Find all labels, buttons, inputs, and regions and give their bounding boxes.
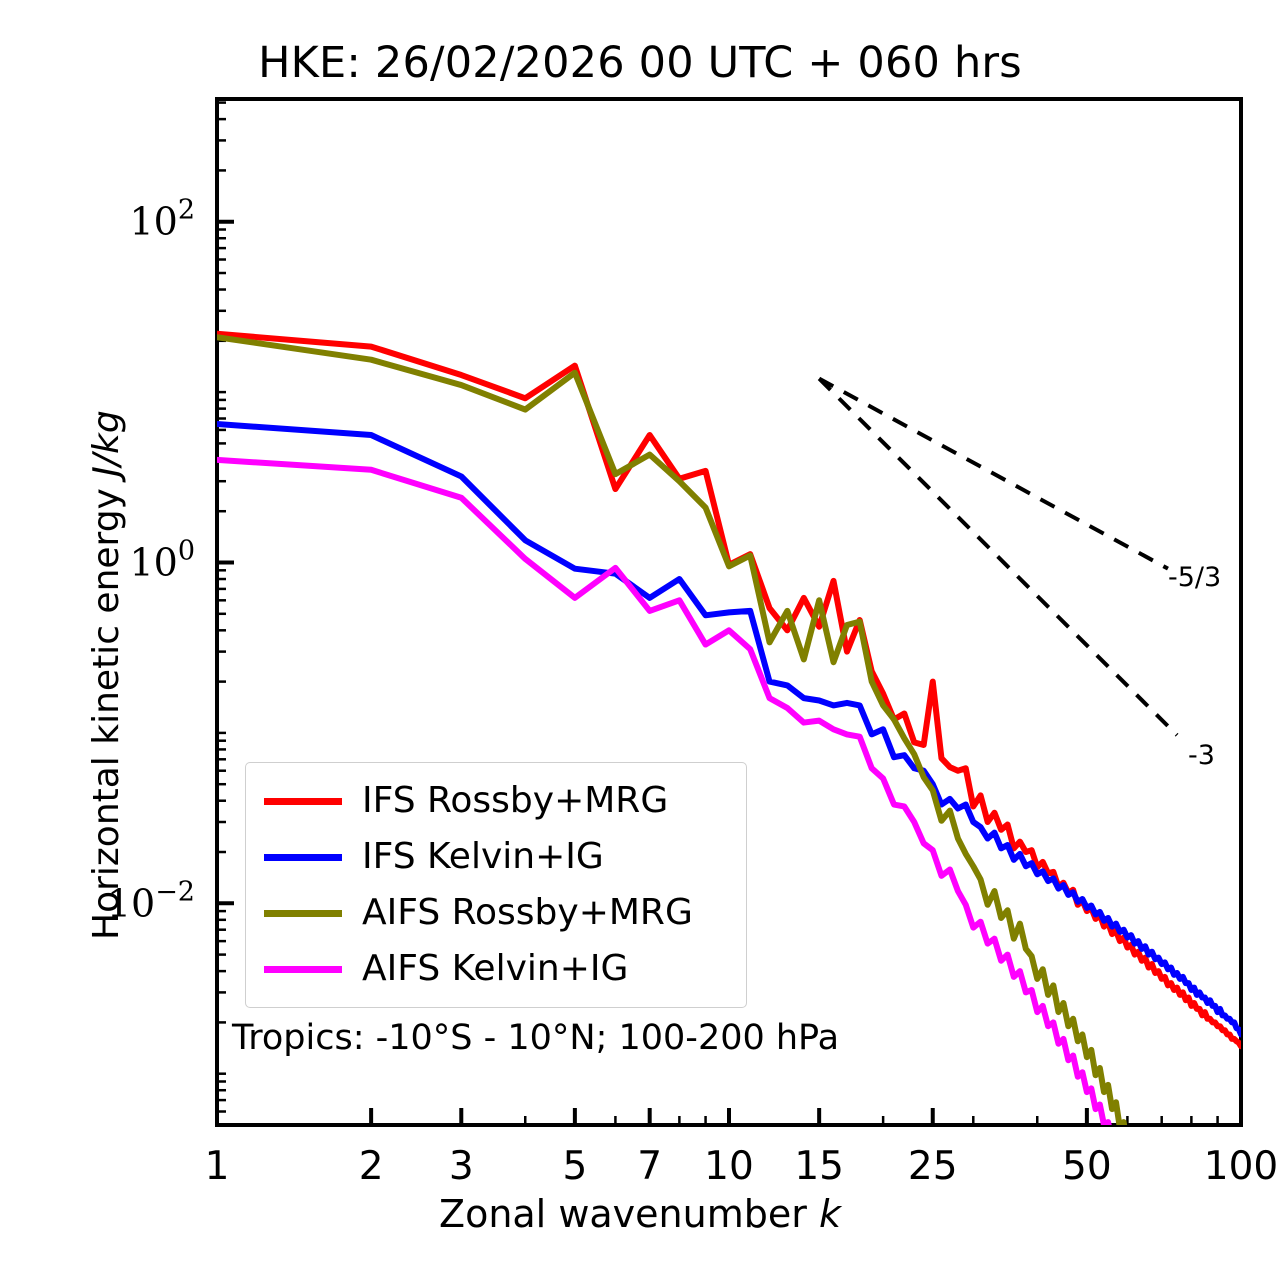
svg-text:102: 102 bbox=[129, 195, 195, 244]
svg-text:50: 50 bbox=[1062, 1144, 1112, 1189]
svg-text:25: 25 bbox=[908, 1144, 958, 1189]
legend-item[interactable]: AIFS Rossby+MRG bbox=[246, 885, 746, 941]
legend-item[interactable]: AIFS Kelvin+IG bbox=[246, 941, 746, 997]
svg-text:100: 100 bbox=[1204, 1144, 1278, 1189]
slope-label-53: -5/3 bbox=[1168, 562, 1221, 593]
svg-text:15: 15 bbox=[794, 1144, 844, 1189]
svg-text:7: 7 bbox=[637, 1144, 662, 1189]
legend-swatch-line bbox=[264, 854, 342, 861]
legend-item[interactable]: IFS Kelvin+IG bbox=[246, 829, 746, 885]
legend-swatch-line bbox=[264, 910, 342, 917]
legend-item-label: IFS Rossby+MRG bbox=[362, 783, 668, 819]
legend-item[interactable]: IFS Rossby+MRG bbox=[246, 773, 746, 829]
svg-text:1: 1 bbox=[205, 1144, 230, 1189]
plot-area: 123571015255010010210010−2 bbox=[0, 0, 1280, 1288]
svg-text:3: 3 bbox=[449, 1144, 474, 1189]
legend-item-label: AIFS Kelvin+IG bbox=[362, 951, 628, 987]
svg-text:10−2: 10−2 bbox=[107, 876, 195, 925]
region-annotation: Tropics: -10°S - 10°N; 100-200 hPa bbox=[232, 1018, 839, 1058]
svg-text:5: 5 bbox=[562, 1144, 587, 1189]
svg-text:10: 10 bbox=[704, 1144, 754, 1189]
svg-text:2: 2 bbox=[359, 1144, 384, 1189]
slope-label-3: -3 bbox=[1188, 740, 1215, 771]
legend-item-label: AIFS Rossby+MRG bbox=[362, 895, 693, 931]
svg-text:100: 100 bbox=[129, 536, 195, 585]
legend-item-label: IFS Kelvin+IG bbox=[362, 839, 604, 875]
figure: HKE: 26/02/2026 00 UTC + 060 hrs Horizon… bbox=[0, 0, 1280, 1288]
legend: IFS Rossby+MRG IFS Kelvin+IG AIFS Rossby… bbox=[245, 762, 747, 1008]
legend-swatch-line bbox=[264, 966, 342, 973]
legend-swatch-line bbox=[264, 798, 342, 805]
